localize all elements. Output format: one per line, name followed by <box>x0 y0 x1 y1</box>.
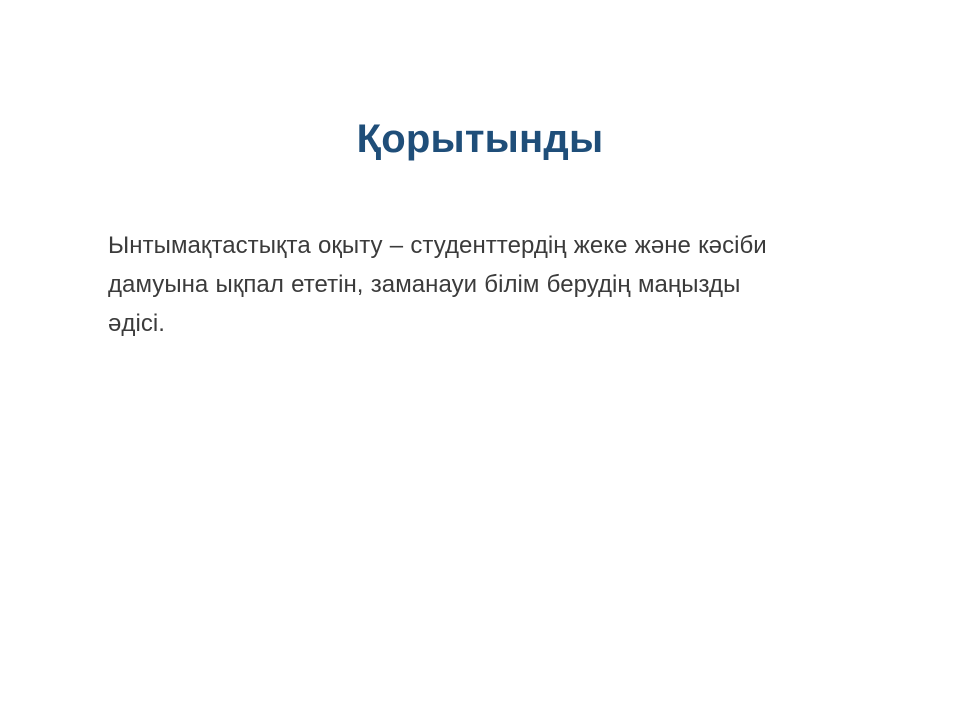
slide-body-textbox[interactable]: Ынтымақтастықта оқыту – студенттердің же… <box>108 202 854 367</box>
body-line-2: дамуына ықпал ететін, заманауи білім бер… <box>108 265 854 304</box>
body-paragraph: Ынтымақтастықта оқыту – студенттердің же… <box>108 226 854 343</box>
body-line-1: Ынтымақтастықта оқыту – студенттердің же… <box>108 226 854 265</box>
page-title: Қорытынды <box>0 113 960 165</box>
presentation-slide: Қорытынды Ынтымақтастықта оқыту – студен… <box>0 0 960 720</box>
body-line-3: әдісі. <box>108 304 854 343</box>
